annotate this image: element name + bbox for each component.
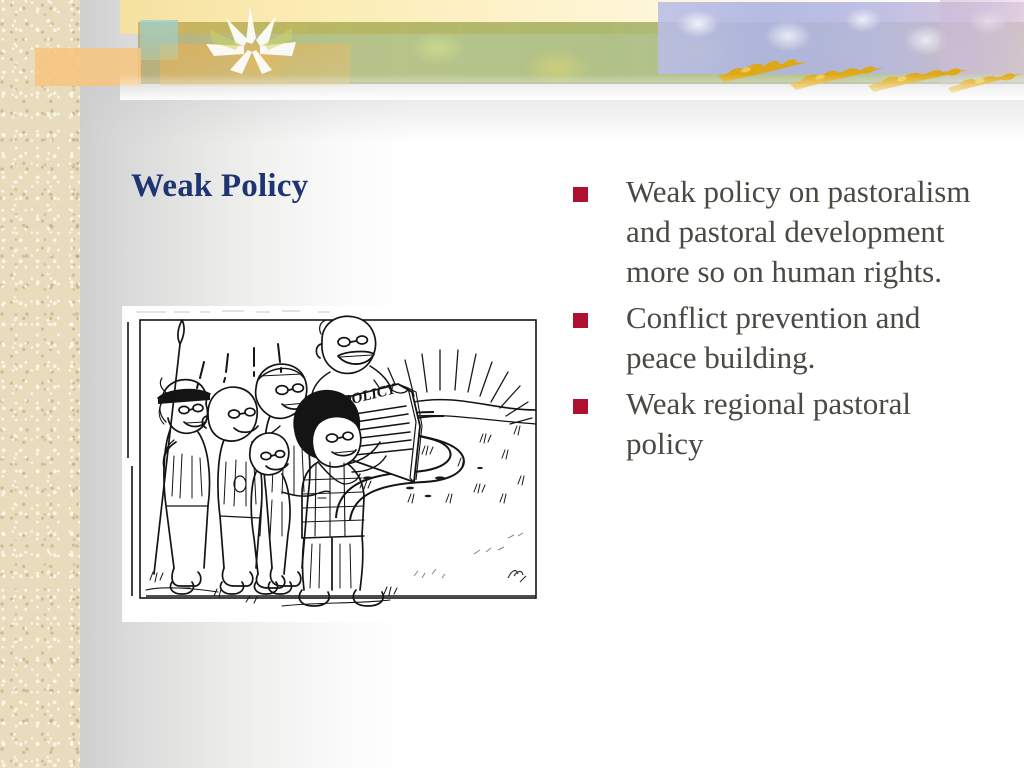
cartoon-illustration: POLICY xyxy=(122,306,550,622)
left-texture-strip xyxy=(0,0,80,768)
white-star-leaf-icon xyxy=(196,4,308,82)
decorative-header-banner xyxy=(0,0,1024,100)
bullet-square-icon xyxy=(573,313,588,328)
bullet-text: Weak policy on pastoralism and pastoral … xyxy=(626,174,970,289)
bullet-square-icon xyxy=(573,399,588,414)
banner-teal-patch xyxy=(140,20,178,60)
list-item: Conflict prevention and peace building. xyxy=(570,298,982,378)
bullet-text: Weak regional pastoral policy xyxy=(626,386,911,461)
page-title: Weak Policy xyxy=(131,168,308,204)
slide-canvas: Weak Policy xyxy=(0,0,1024,768)
bullet-square-icon xyxy=(573,187,588,202)
banner-bottom-fade xyxy=(120,74,1024,100)
list-item: Weak policy on pastoralism and pastoral … xyxy=(570,172,982,292)
bullet-text: Conflict prevention and peace building. xyxy=(626,300,920,375)
bullet-list: Weak policy on pastoralism and pastoral … xyxy=(570,172,982,470)
list-item: Weak regional pastoral policy xyxy=(570,384,982,464)
